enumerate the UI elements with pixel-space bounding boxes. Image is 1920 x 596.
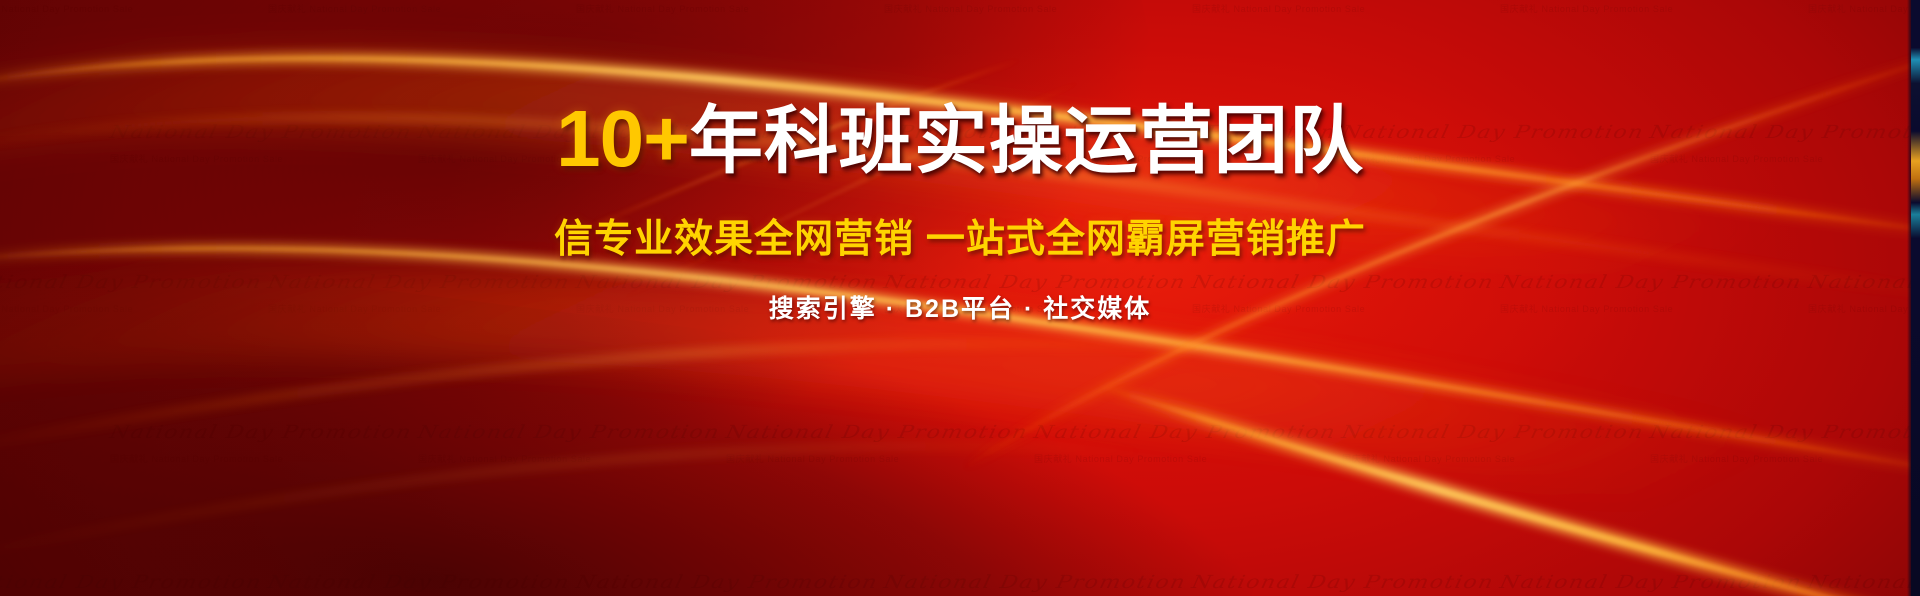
- watermark-tile: National Day Promotion国庆献礼 National Day …: [418, 110, 726, 165]
- watermark-tile: National Day Promotion国庆献礼 National Day …: [0, 560, 268, 596]
- watermark-tile: National Day Promotion国庆献礼 National Day …: [268, 0, 576, 15]
- watermark-script-text: National Day Promotion: [0, 272, 270, 293]
- watermark-sub-text: 国庆献礼 National Day Promotion Sale: [1192, 2, 1500, 15]
- watermark-script-text: National Day Promotion: [1340, 122, 1652, 143]
- watermark-sub-text: 国庆献礼 National Day Promotion Sale: [1342, 152, 1650, 165]
- watermark-script-text: National Day Promotion: [1806, 272, 1920, 293]
- watermark-tile: National Day Promotion国庆献礼 National Day …: [1808, 260, 1920, 315]
- watermark-script-text: National Day Promotion: [266, 272, 578, 293]
- watermark-row: National Day Promotion国庆献礼 National Day …: [0, 0, 1920, 110]
- watermark-tile: National Day Promotion国庆献礼 National Day …: [1650, 110, 1920, 165]
- watermark-tile: National Day Promotion国庆献礼 National Day …: [1500, 560, 1808, 596]
- watermark-script-text: National Day Promotion: [1806, 572, 1920, 593]
- watermark-sub-text: 国庆献礼 National Day Promotion Sale: [1808, 2, 1920, 15]
- watermark-sub-text: 国庆献礼 National Day Promotion Sale: [1650, 152, 1920, 165]
- watermark-tile: National Day Promotion国庆献礼 National Day …: [0, 260, 268, 315]
- watermark-script-text: National Day Promotion: [266, 572, 578, 593]
- watermark-sub-text: 国庆献礼 National Day Promotion Sale: [1500, 302, 1808, 315]
- watermark-sub-text: 国庆献礼 National Day Promotion Sale: [726, 452, 1034, 465]
- next-slide-sliver[interactable]: [1911, 0, 1920, 596]
- watermark-sub-text: 国庆献礼 National Day Promotion Sale: [110, 152, 418, 165]
- watermark-tile: National Day Promotion国庆献礼 National Day …: [418, 410, 726, 465]
- watermark-tile: National Day Promotion国庆献礼 National Day …: [1034, 110, 1342, 165]
- watermark-script-text: National Day Promotion: [416, 122, 728, 143]
- watermark-tile: National Day Promotion国庆献礼 National Day …: [1808, 0, 1920, 15]
- watermark-tile: National Day Promotion国庆献礼 National Day …: [1034, 410, 1342, 465]
- watermark-sub-text: 国庆献礼 National Day Promotion Sale: [884, 302, 1192, 315]
- watermark-tile: National Day Promotion国庆献礼 National Day …: [1650, 410, 1920, 465]
- watermark-tile: National Day Promotion国庆献礼 National Day …: [1342, 110, 1650, 165]
- watermark-script-text: National Day Promotion: [1190, 572, 1502, 593]
- watermark-tile: National Day Promotion国庆献礼 National Day …: [726, 110, 1034, 165]
- watermark-tile: National Day Promotion国庆献礼 National Day …: [1500, 0, 1808, 15]
- watermark-row: National Day Promotion国庆献礼 National Day …: [0, 260, 1920, 410]
- watermark-script-text: National Day Promotion: [1032, 422, 1344, 443]
- watermark-sub-text: 国庆献礼 National Day Promotion Sale: [1650, 452, 1920, 465]
- watermark-script-text: National Day Promotion: [1648, 422, 1920, 443]
- watermark-sub-text: 国庆献礼 National Day Promotion Sale: [1034, 152, 1342, 165]
- watermark-sub-text: 国庆献礼 National Day Promotion Sale: [576, 2, 884, 15]
- watermark-script-text: National Day Promotion: [724, 122, 1036, 143]
- watermark-script-text: National Day Promotion: [1648, 122, 1920, 143]
- watermark-tile: National Day Promotion国庆献礼 National Day …: [110, 410, 418, 465]
- watermark-sub-text: 国庆献礼 National Day Promotion Sale: [0, 302, 268, 315]
- watermark-sub-text: 国庆献礼 National Day Promotion Sale: [110, 452, 418, 465]
- watermark-sub-text: 国庆献礼 National Day Promotion Sale: [418, 452, 726, 465]
- watermark-script-text: National Day Promotion: [0, 572, 270, 593]
- watermark-tile: National Day Promotion国庆献礼 National Day …: [1808, 560, 1920, 596]
- watermark-script-text: National Day Promotion: [724, 422, 1036, 443]
- watermark-script-text: National Day Promotion: [1498, 272, 1810, 293]
- watermark-sub-text: 国庆献礼 National Day Promotion Sale: [1034, 452, 1342, 465]
- watermark-tile: National Day Promotion国庆献礼 National Day …: [0, 0, 268, 15]
- promo-banner: National Day Promotion国庆献礼 National Day …: [0, 0, 1920, 596]
- watermark-sub-text: 国庆献礼 National Day Promotion Sale: [1342, 452, 1650, 465]
- watermark-sub-text: 国庆献礼 National Day Promotion Sale: [884, 2, 1192, 15]
- watermark-sub-text: 国庆献礼 National Day Promotion Sale: [0, 2, 268, 15]
- watermark-sub-text: 国庆献礼 National Day Promotion Sale: [418, 152, 726, 165]
- watermark-tile: National Day Promotion国庆献礼 National Day …: [884, 560, 1192, 596]
- watermark-row: National Day Promotion国庆献礼 National Day …: [0, 410, 1920, 560]
- watermark-tile: National Day Promotion国庆献礼 National Day …: [1192, 0, 1500, 15]
- watermark-pattern: National Day Promotion国庆献礼 National Day …: [0, 0, 1920, 596]
- watermark-tile: National Day Promotion国庆献礼 National Day …: [110, 110, 418, 165]
- watermark-tile: National Day Promotion国庆献礼 National Day …: [726, 410, 1034, 465]
- watermark-tile: National Day Promotion国庆献礼 National Day …: [1192, 260, 1500, 315]
- watermark-sub-text: 国庆献礼 National Day Promotion Sale: [1500, 2, 1808, 15]
- watermark-row: National Day Promotion国庆献礼 National Day …: [0, 560, 1920, 596]
- watermark-script-text: National Day Promotion: [1340, 422, 1652, 443]
- watermark-tile: National Day Promotion国庆献礼 National Day …: [576, 560, 884, 596]
- watermark-script-text: National Day Promotion: [574, 272, 886, 293]
- watermark-script-text: National Day Promotion: [1032, 122, 1344, 143]
- watermark-tile: National Day Promotion国庆献礼 National Day …: [268, 560, 576, 596]
- watermark-script-text: National Day Promotion: [108, 422, 420, 443]
- watermark-sub-text: 国庆献礼 National Day Promotion Sale: [1192, 302, 1500, 315]
- watermark-tile: National Day Promotion国庆献礼 National Day …: [576, 260, 884, 315]
- watermark-script-text: National Day Promotion: [574, 572, 886, 593]
- watermark-tile: National Day Promotion国庆献礼 National Day …: [884, 260, 1192, 315]
- watermark-sub-text: 国庆献礼 National Day Promotion Sale: [1808, 302, 1920, 315]
- watermark-row: National Day Promotion国庆献礼 National Day …: [0, 110, 1920, 260]
- watermark-script-text: National Day Promotion: [882, 572, 1194, 593]
- watermark-script-text: National Day Promotion: [416, 422, 728, 443]
- watermark-tile: National Day Promotion国庆献礼 National Day …: [1342, 410, 1650, 465]
- watermark-script-text: National Day Promotion: [882, 272, 1194, 293]
- watermark-sub-text: 国庆献礼 National Day Promotion Sale: [576, 302, 884, 315]
- watermark-tile: National Day Promotion国庆献礼 National Day …: [268, 260, 576, 315]
- watermark-sub-text: 国庆献礼 National Day Promotion Sale: [268, 302, 576, 315]
- watermark-sub-text: 国庆献礼 National Day Promotion Sale: [268, 2, 576, 15]
- watermark-script-text: National Day Promotion: [108, 122, 420, 143]
- watermark-script-text: National Day Promotion: [1190, 272, 1502, 293]
- watermark-script-text: National Day Promotion: [1498, 572, 1810, 593]
- watermark-tile: National Day Promotion国庆献礼 National Day …: [1192, 560, 1500, 596]
- watermark-tile: National Day Promotion国庆献礼 National Day …: [884, 0, 1192, 15]
- watermark-sub-text: 国庆献礼 National Day Promotion Sale: [726, 152, 1034, 165]
- watermark-tile: National Day Promotion国庆献礼 National Day …: [576, 0, 884, 15]
- watermark-tile: National Day Promotion国庆献礼 National Day …: [1500, 260, 1808, 315]
